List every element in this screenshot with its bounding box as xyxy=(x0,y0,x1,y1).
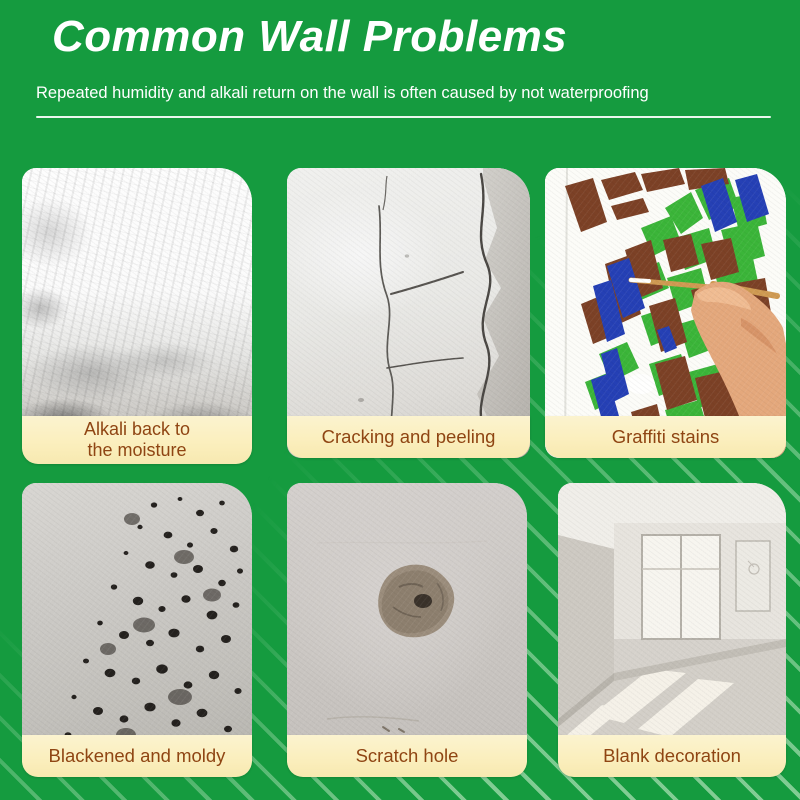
caption-blank-text: Blank decoration xyxy=(603,745,741,767)
caption-scratch: Scratch hole xyxy=(287,735,527,777)
caption-graffiti: Graffiti stains xyxy=(545,416,786,458)
blank-room-photo xyxy=(558,483,786,768)
crack-lines-vector xyxy=(287,168,530,458)
cracking-photo xyxy=(287,168,530,458)
caption-mold-text: Blackened and moldy xyxy=(49,745,226,767)
problem-card-scratch[interactable] xyxy=(287,483,527,768)
hole-vector xyxy=(287,483,527,768)
caption-cracking: Cracking and peeling xyxy=(287,416,530,458)
problem-card-grid: Alkali back to the moisture xyxy=(0,0,800,800)
mold-spots-vector xyxy=(22,483,252,768)
problem-card-cracking[interactable] xyxy=(287,168,530,458)
caption-alkali-line2: the moisture xyxy=(87,440,186,460)
caption-blank: Blank decoration xyxy=(558,735,786,777)
caption-mold: Blackened and moldy xyxy=(22,735,252,777)
scratch-hole-photo xyxy=(287,483,527,768)
caption-graffiti-text: Graffiti stains xyxy=(612,426,720,448)
problem-card-mold[interactable] xyxy=(22,483,252,768)
problem-card-blank[interactable] xyxy=(558,483,786,768)
caption-alkali: Alkali back to the moisture xyxy=(22,416,252,464)
caption-scratch-text: Scratch hole xyxy=(356,745,459,767)
caption-cracking-text: Cracking and peeling xyxy=(322,426,496,448)
empty-room-vector xyxy=(558,483,786,768)
caption-alkali-text: Alkali back to the moisture xyxy=(84,419,190,461)
caption-alkali-line1: Alkali back to xyxy=(84,419,190,439)
crayon-drawing-vector xyxy=(545,168,786,458)
graffiti-photo xyxy=(545,168,786,458)
problem-card-graffiti[interactable] xyxy=(545,168,786,458)
mold-photo xyxy=(22,483,252,768)
